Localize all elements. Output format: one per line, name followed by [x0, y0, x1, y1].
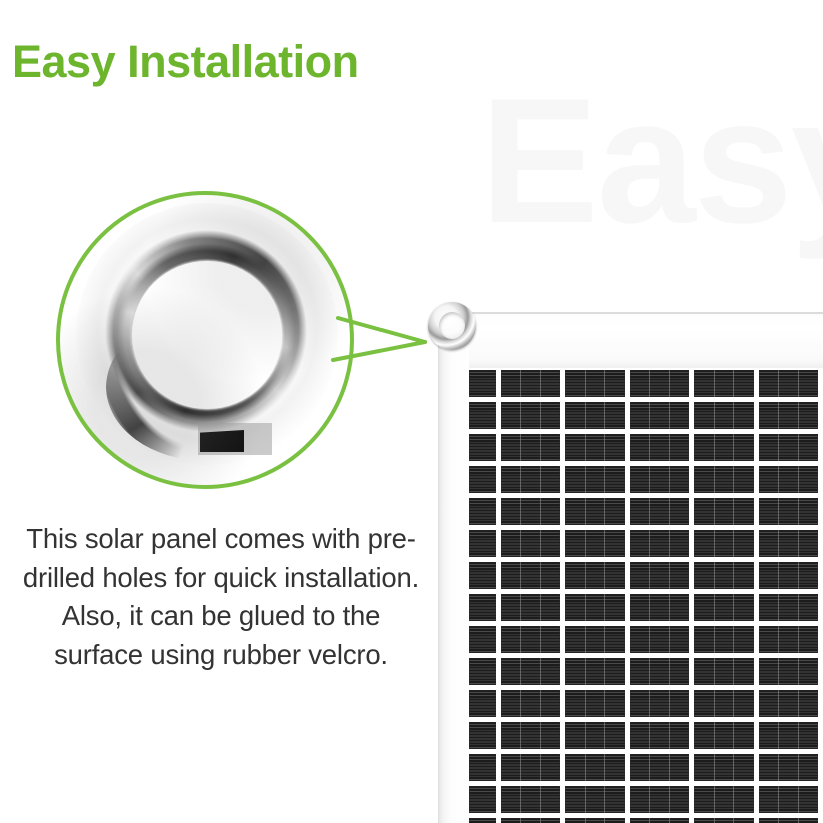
solar-cell — [759, 370, 819, 397]
cell-busbar — [778, 370, 779, 397]
cell-busbar — [733, 370, 734, 397]
solar-cell — [694, 530, 754, 557]
solar-cell — [565, 402, 625, 429]
cell-busbar — [649, 722, 650, 749]
cell-busbar — [733, 402, 734, 429]
solar-cell — [759, 626, 819, 653]
cell-busbar — [669, 562, 670, 589]
cell-busbar — [585, 690, 586, 717]
cell-busbar — [798, 562, 799, 589]
cell-busbar — [585, 562, 586, 589]
cell-busbar — [604, 626, 605, 653]
solar-cell — [469, 498, 496, 525]
solar-cell-row — [469, 688, 823, 720]
solar-cell-row — [469, 592, 823, 624]
cell-busbar — [540, 498, 541, 525]
cell-busbar — [669, 786, 670, 813]
solar-cell — [565, 786, 625, 813]
solar-cell — [694, 818, 754, 823]
cell-busbar — [649, 530, 650, 557]
cell-busbar — [733, 434, 734, 461]
solar-cell — [501, 370, 561, 397]
solar-cell — [630, 786, 690, 813]
solar-cell — [469, 786, 496, 813]
solar-cell — [501, 786, 561, 813]
cell-busbar — [714, 466, 715, 493]
cell-busbar — [778, 498, 779, 525]
solar-cell — [501, 562, 561, 589]
cell-busbar — [604, 786, 605, 813]
solar-cell — [501, 434, 561, 461]
cell-busbar — [778, 402, 779, 429]
cell-busbar — [520, 658, 521, 685]
cell-busbar — [520, 594, 521, 621]
solar-cell-row — [469, 624, 823, 656]
cell-busbar — [733, 594, 734, 621]
solar-cell-row — [469, 528, 823, 560]
solar-cell — [694, 722, 754, 749]
cell-busbar — [604, 370, 605, 397]
solar-cell — [759, 658, 819, 685]
cell-busbar — [604, 562, 605, 589]
cell-busbar — [714, 658, 715, 685]
panel-top-frame — [438, 312, 823, 368]
cell-busbar — [798, 818, 799, 823]
solar-cell — [694, 754, 754, 781]
solar-cell — [469, 466, 496, 493]
cell-busbar — [714, 594, 715, 621]
solar-cell — [694, 402, 754, 429]
solar-cell — [501, 626, 561, 653]
solar-cell — [759, 594, 819, 621]
cell-busbar — [604, 466, 605, 493]
cell-busbar — [778, 562, 779, 589]
cell-busbar — [649, 818, 650, 823]
cell-busbar — [778, 786, 779, 813]
cell-busbar — [733, 498, 734, 525]
cell-busbar — [585, 370, 586, 397]
solar-cell-row — [469, 816, 823, 823]
panel-grommet-icon — [428, 302, 476, 350]
cell-busbar — [604, 658, 605, 685]
cell-busbar — [585, 786, 586, 813]
solar-cell — [565, 434, 625, 461]
cell-busbar — [778, 690, 779, 717]
panel-left-frame — [438, 312, 469, 823]
solar-cell — [469, 370, 496, 397]
solar-cell — [759, 466, 819, 493]
solar-cell — [469, 754, 496, 781]
cell-busbar — [714, 754, 715, 781]
cell-busbar — [585, 402, 586, 429]
solar-cell — [694, 370, 754, 397]
solar-cell — [759, 818, 819, 823]
cell-busbar — [540, 690, 541, 717]
solar-cell-row — [469, 720, 823, 752]
body-paragraph: This solar panel comes with pre-drilled … — [18, 520, 424, 674]
solar-cell — [694, 498, 754, 525]
cell-busbar — [540, 562, 541, 589]
cell-busbar — [520, 562, 521, 589]
cell-busbar — [585, 658, 586, 685]
solar-cell — [501, 722, 561, 749]
cell-busbar — [649, 562, 650, 589]
cell-busbar — [798, 722, 799, 749]
cell-busbar — [798, 626, 799, 653]
cell-busbar — [714, 530, 715, 557]
cell-busbar — [798, 530, 799, 557]
cell-busbar — [669, 530, 670, 557]
cell-busbar — [649, 754, 650, 781]
solar-cell — [694, 626, 754, 653]
solar-cell — [501, 594, 561, 621]
cell-busbar — [585, 434, 586, 461]
cell-busbar — [604, 402, 605, 429]
cell-busbar — [733, 722, 734, 749]
solar-cell-grid — [469, 368, 823, 823]
solar-cell — [469, 658, 496, 685]
solar-cell — [565, 466, 625, 493]
cell-busbar — [733, 690, 734, 717]
cell-busbar — [798, 434, 799, 461]
cell-busbar — [585, 530, 586, 557]
solar-cell — [565, 722, 625, 749]
cell-busbar — [649, 434, 650, 461]
cell-busbar — [649, 370, 650, 397]
solar-cell — [759, 722, 819, 749]
cell-busbar — [798, 466, 799, 493]
solar-cell — [630, 818, 690, 823]
solar-cell — [630, 562, 690, 589]
cell-busbar — [604, 690, 605, 717]
solar-cell-row — [469, 560, 823, 592]
cell-busbar — [520, 690, 521, 717]
cell-busbar — [540, 466, 541, 493]
solar-cell — [630, 754, 690, 781]
cell-busbar — [669, 818, 670, 823]
cell-busbar — [585, 626, 586, 653]
cell-busbar — [520, 722, 521, 749]
cell-busbar — [669, 594, 670, 621]
solar-cell-row — [469, 432, 823, 464]
solar-cell — [759, 530, 819, 557]
solar-cell — [501, 402, 561, 429]
solar-cell — [694, 594, 754, 621]
cell-busbar — [585, 818, 586, 823]
background-watermark-text: Easy — [480, 72, 823, 250]
cell-busbar — [540, 722, 541, 749]
cell-busbar — [669, 754, 670, 781]
cell-busbar — [669, 498, 670, 525]
solar-cell — [469, 690, 496, 717]
cell-busbar — [669, 466, 670, 493]
cell-busbar — [733, 658, 734, 685]
cell-busbar — [798, 754, 799, 781]
cell-busbar — [669, 626, 670, 653]
cell-busbar — [585, 594, 586, 621]
solar-cell — [565, 370, 625, 397]
solar-cell — [565, 498, 625, 525]
cell-busbar — [604, 530, 605, 557]
cell-busbar — [540, 818, 541, 823]
page-title: Easy Installation — [12, 38, 359, 85]
solar-cell — [565, 530, 625, 557]
solar-cell — [694, 690, 754, 717]
cell-busbar — [798, 690, 799, 717]
cell-busbar — [540, 370, 541, 397]
cell-busbar — [714, 434, 715, 461]
cell-busbar — [669, 434, 670, 461]
cell-busbar — [540, 754, 541, 781]
cell-busbar — [520, 818, 521, 823]
solar-cell — [469, 562, 496, 589]
cell-busbar — [778, 594, 779, 621]
cell-busbar — [669, 722, 670, 749]
panel-top-edge-line — [438, 312, 823, 314]
cell-busbar — [798, 370, 799, 397]
cell-busbar — [540, 786, 541, 813]
solar-cell — [501, 530, 561, 557]
solar-cell — [469, 402, 496, 429]
solar-cell — [565, 690, 625, 717]
cell-busbar — [540, 658, 541, 685]
cell-busbar — [649, 402, 650, 429]
callout-photo — [58, 193, 352, 487]
solar-cell — [565, 594, 625, 621]
cell-busbar — [649, 786, 650, 813]
solar-cell-row — [469, 752, 823, 784]
solar-cell — [759, 498, 819, 525]
cell-busbar — [778, 626, 779, 653]
cell-busbar — [714, 818, 715, 823]
solar-cell — [694, 434, 754, 461]
solar-cell — [501, 690, 561, 717]
cell-busbar — [778, 818, 779, 823]
cell-busbar — [669, 658, 670, 685]
solar-cell — [630, 594, 690, 621]
solar-cell — [565, 626, 625, 653]
cell-busbar — [540, 530, 541, 557]
cell-busbar — [585, 754, 586, 781]
solar-cell — [759, 754, 819, 781]
solar-cell — [694, 786, 754, 813]
cell-busbar — [649, 626, 650, 653]
cell-busbar — [669, 370, 670, 397]
cell-busbar — [669, 690, 670, 717]
cell-busbar — [520, 466, 521, 493]
cell-busbar — [540, 626, 541, 653]
solar-cell — [759, 690, 819, 717]
cell-busbar — [604, 754, 605, 781]
cell-busbar — [714, 626, 715, 653]
solar-cell-row — [469, 656, 823, 688]
solar-cell — [630, 434, 690, 461]
cell-busbar — [733, 562, 734, 589]
cell-busbar — [733, 754, 734, 781]
solar-cell — [630, 498, 690, 525]
solar-cell — [501, 818, 561, 823]
cell-busbar — [520, 402, 521, 429]
solar-cell — [630, 370, 690, 397]
solar-cell — [759, 786, 819, 813]
solar-cell-row — [469, 400, 823, 432]
solar-cell-row — [469, 368, 823, 400]
solar-cell — [694, 466, 754, 493]
cell-busbar — [733, 786, 734, 813]
cell-busbar — [669, 402, 670, 429]
solar-cell — [565, 658, 625, 685]
solar-cell — [630, 626, 690, 653]
cell-busbar — [778, 722, 779, 749]
cell-busbar — [585, 466, 586, 493]
cell-busbar — [585, 498, 586, 525]
product-feature-image: Easy Easy Installation This solar panel … — [0, 0, 823, 823]
solar-cell — [469, 530, 496, 557]
solar-cell — [501, 658, 561, 685]
cell-busbar — [604, 818, 605, 823]
cell-busbar — [649, 690, 650, 717]
solar-cell — [565, 754, 625, 781]
cell-busbar — [714, 370, 715, 397]
cell-busbar — [520, 626, 521, 653]
cell-busbar — [733, 818, 734, 823]
solar-cell-row — [469, 464, 823, 496]
cell-busbar — [778, 434, 779, 461]
solar-cell — [501, 498, 561, 525]
solar-cell — [759, 402, 819, 429]
cell-busbar — [714, 498, 715, 525]
cell-busbar — [798, 658, 799, 685]
solar-cell — [630, 530, 690, 557]
cell-busbar — [778, 530, 779, 557]
cell-busbar — [733, 530, 734, 557]
cell-busbar — [714, 690, 715, 717]
cell-busbar — [733, 626, 734, 653]
solar-cell-row — [469, 784, 823, 816]
cell-busbar — [520, 530, 521, 557]
cell-busbar — [798, 786, 799, 813]
solar-cell — [694, 658, 754, 685]
solar-cell — [630, 722, 690, 749]
cell-busbar — [540, 434, 541, 461]
cell-busbar — [540, 594, 541, 621]
cell-busbar — [733, 466, 734, 493]
cell-busbar — [520, 498, 521, 525]
cell-busbar — [778, 754, 779, 781]
cell-busbar — [649, 658, 650, 685]
cell-busbar — [798, 594, 799, 621]
cell-busbar — [778, 658, 779, 685]
solar-cell — [630, 466, 690, 493]
solar-panel-image — [438, 312, 823, 823]
solar-cell — [501, 754, 561, 781]
photo-grain-overlay — [58, 193, 352, 487]
solar-cell — [759, 434, 819, 461]
solar-cell — [630, 402, 690, 429]
cell-busbar — [585, 722, 586, 749]
solar-cell — [759, 562, 819, 589]
solar-cell — [694, 562, 754, 589]
solar-cell — [469, 594, 496, 621]
solar-cell-row — [469, 496, 823, 528]
cell-busbar — [520, 370, 521, 397]
cell-busbar — [520, 434, 521, 461]
cell-busbar — [604, 498, 605, 525]
solar-cell — [630, 658, 690, 685]
solar-cell — [565, 818, 625, 823]
solar-cell — [501, 466, 561, 493]
cell-busbar — [649, 498, 650, 525]
cell-busbar — [604, 594, 605, 621]
solar-cell — [630, 690, 690, 717]
solar-cell — [469, 818, 496, 823]
cell-busbar — [649, 466, 650, 493]
solar-cell — [565, 562, 625, 589]
solar-cell — [469, 434, 496, 461]
cell-busbar — [778, 466, 779, 493]
cell-busbar — [798, 402, 799, 429]
cell-busbar — [714, 722, 715, 749]
cell-busbar — [604, 434, 605, 461]
solar-cell — [469, 722, 496, 749]
cell-busbar — [540, 402, 541, 429]
cell-busbar — [714, 786, 715, 813]
solar-cell — [469, 626, 496, 653]
cell-busbar — [714, 402, 715, 429]
cell-busbar — [520, 786, 521, 813]
cell-busbar — [649, 594, 650, 621]
cell-busbar — [520, 754, 521, 781]
cell-busbar — [714, 562, 715, 589]
cell-busbar — [798, 498, 799, 525]
cell-busbar — [604, 722, 605, 749]
